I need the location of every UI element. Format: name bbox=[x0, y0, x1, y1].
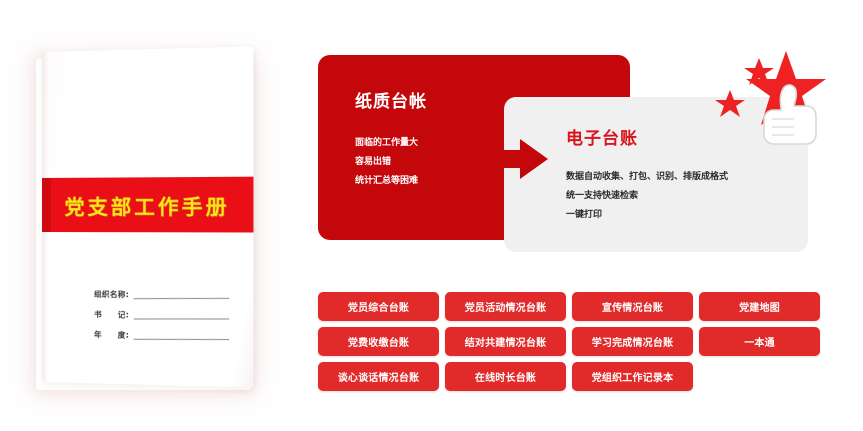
ledger-button-heart-to-heart-talk[interactable]: 谈心谈话情况台账 bbox=[318, 362, 439, 391]
ledger-button-pair-building[interactable]: 结对共建情况台账 bbox=[445, 327, 566, 356]
book-title: 党支部工作手册 bbox=[64, 190, 229, 220]
ledger-button-online-duration[interactable]: 在线时长台账 bbox=[445, 362, 566, 391]
ledger-button-party-building-map[interactable]: 党建地图 bbox=[699, 292, 820, 321]
book-field-list: 组织名称: 书 记: 年 度: bbox=[94, 289, 228, 352]
book-field-row: 组织名称: bbox=[94, 289, 228, 302]
book-field-row: 书 记: bbox=[94, 309, 228, 322]
book-band-spine-edge bbox=[42, 178, 51, 232]
ledger-button-all-in-one[interactable]: 一本通 bbox=[699, 327, 820, 356]
ledger-button-party-dues[interactable]: 党费收缴台账 bbox=[318, 327, 439, 356]
book-field-line bbox=[133, 338, 228, 339]
electronic-ledger-point: 一键打印 bbox=[566, 206, 808, 225]
ledger-button-row: 党费收缴台账 结对共建情况台账 学习完成情况台账 一本通 bbox=[318, 327, 826, 356]
ledger-button-party-org-worklog[interactable]: 党组织工作记录本 bbox=[572, 362, 693, 391]
electronic-ledger-point: 统一支持快速检索 bbox=[566, 187, 808, 206]
book-field-label-organization: 组织名称: bbox=[94, 289, 129, 301]
book-field-row: 年 度: bbox=[94, 329, 228, 343]
book-field-line bbox=[133, 297, 228, 298]
book-field-label-secretary: 书 记: bbox=[94, 309, 129, 321]
comparison-section: 纸质台帐 面临的工作量大 容易出错 统计汇总等困难 电子台账 数据自动收集、打包… bbox=[318, 55, 818, 255]
ledger-button-party-member-activity[interactable]: 党员活动情况台账 bbox=[445, 292, 566, 321]
electronic-ledger-points: 数据自动收集、打包、识别、排版成格式 统一支持快速检索 一键打印 bbox=[566, 168, 808, 225]
book-illustration: 党支部工作手册 组织名称: 书 记: 年 度: bbox=[30, 52, 260, 397]
electronic-ledger-point: 数据自动收集、打包、识别、排版成格式 bbox=[566, 168, 808, 187]
ledger-button-row: 谈心谈话情况台账 在线时长台账 党组织工作记录本 bbox=[318, 362, 826, 391]
ledger-button-row: 党员综合台账 党员活动情况台账 宣传情况台账 党建地图 bbox=[318, 292, 826, 321]
thumbs-up-star-icon bbox=[712, 43, 842, 148]
book-cover: 党支部工作手册 组织名称: 书 记: 年 度: bbox=[42, 46, 253, 387]
ledger-button-study-completion[interactable]: 学习完成情况台账 bbox=[572, 327, 693, 356]
arrow-right-icon bbox=[480, 137, 548, 181]
book-title-band: 党支部工作手册 bbox=[42, 177, 253, 233]
book-field-label-year: 年 度: bbox=[94, 329, 129, 341]
ledger-button-grid: 党员综合台账 党员活动情况台账 宣传情况台账 党建地图 党费收缴台账 结对共建情… bbox=[318, 292, 826, 397]
ledger-button-publicity[interactable]: 宣传情况台账 bbox=[572, 292, 693, 321]
book-field-line bbox=[133, 318, 228, 319]
ledger-button-party-member-summary[interactable]: 党员综合台账 bbox=[318, 292, 439, 321]
